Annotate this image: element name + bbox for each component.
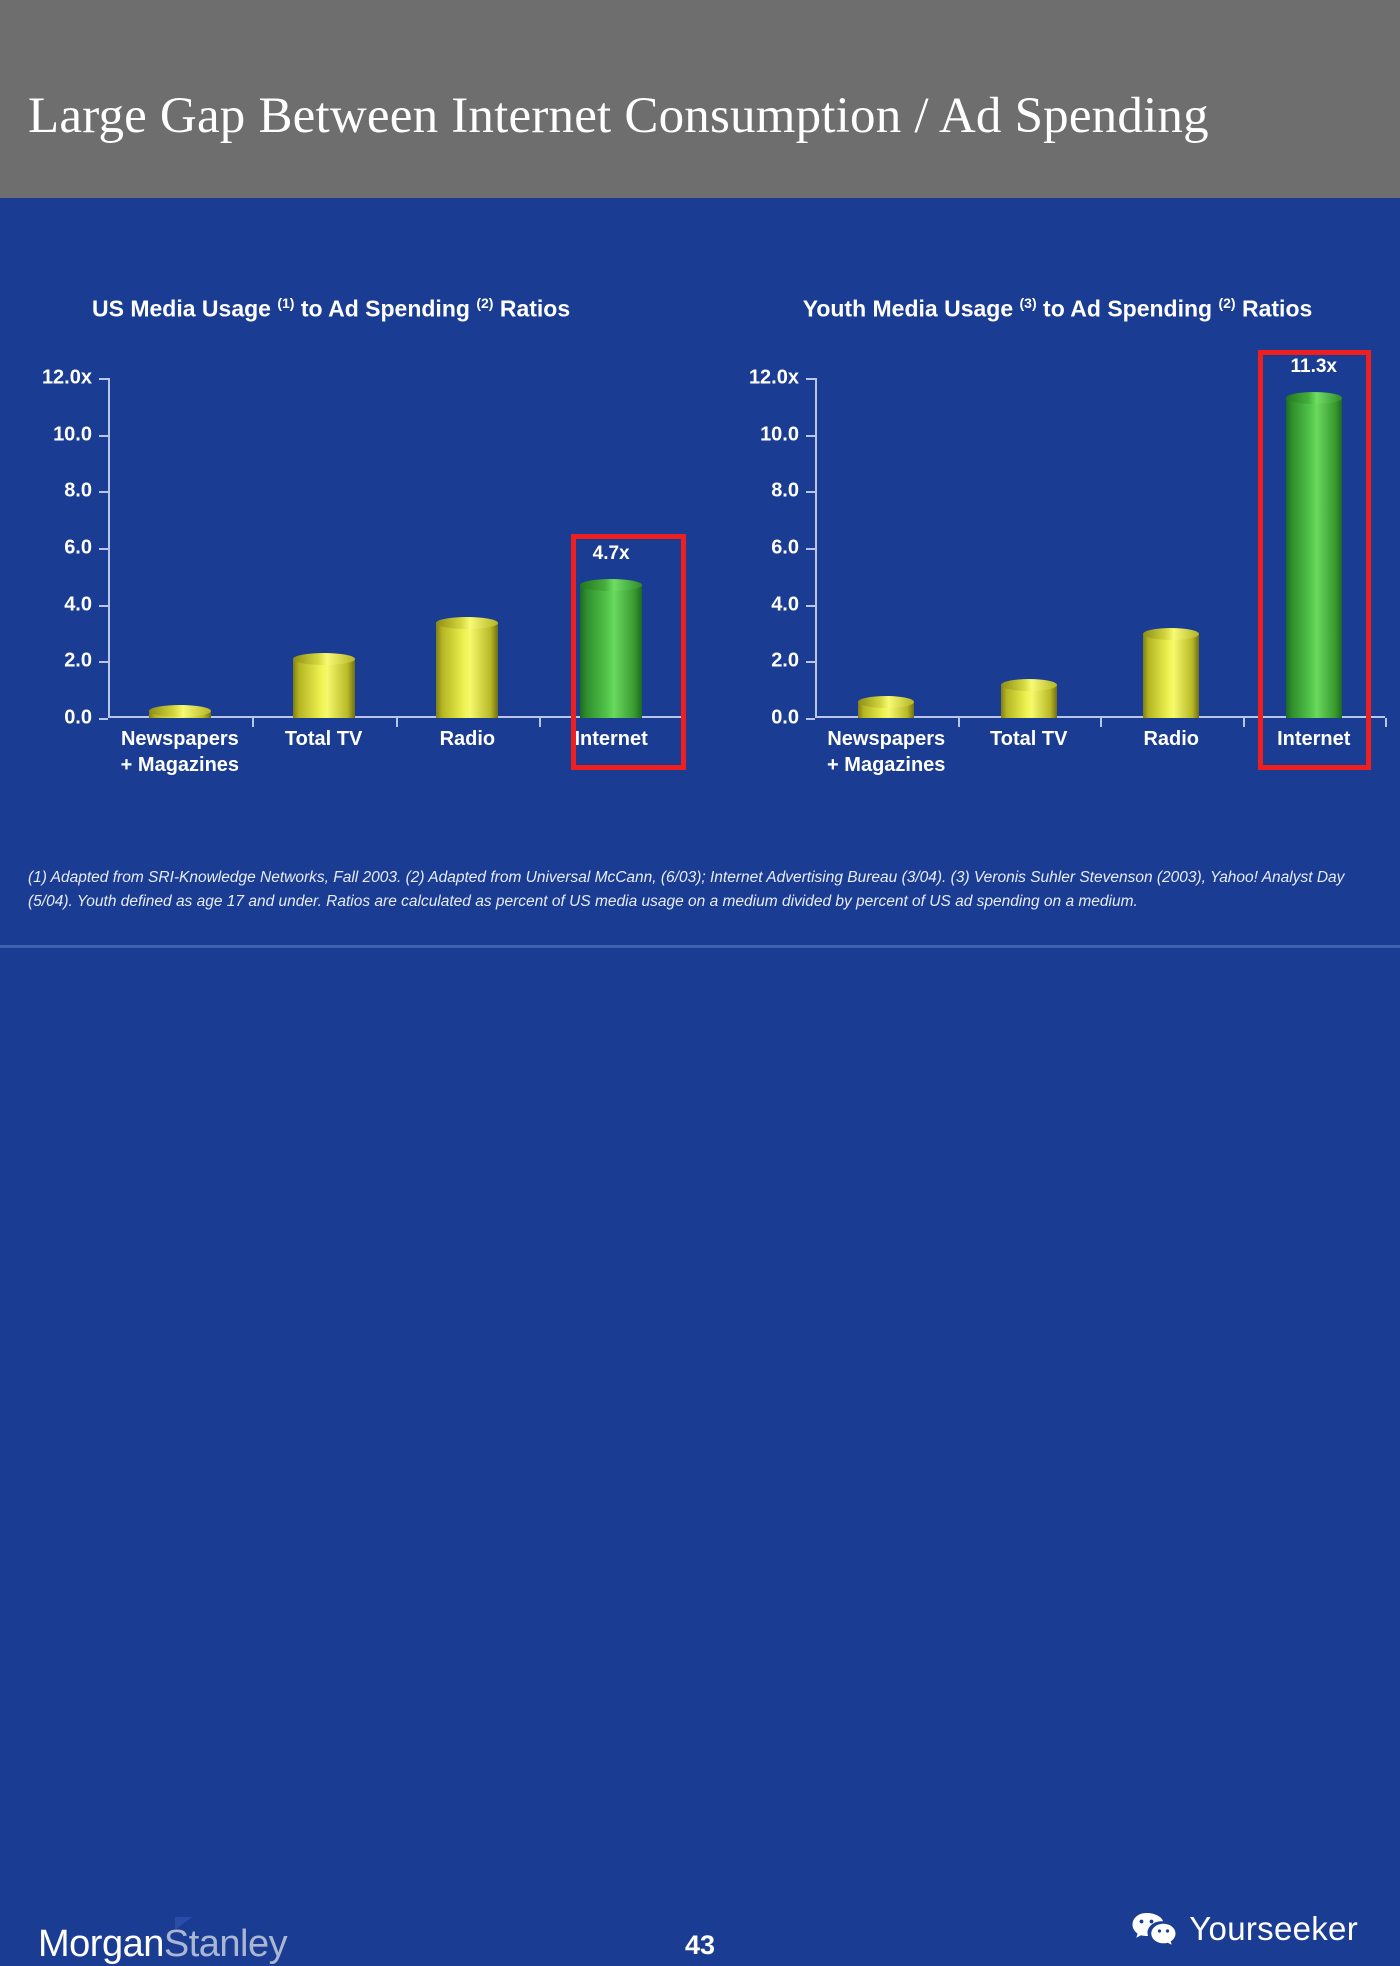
bar-radio	[1143, 634, 1199, 718]
y-tick	[806, 718, 815, 720]
y-tick	[99, 435, 108, 437]
x-axis-label-total-tv: Total TV	[252, 726, 396, 752]
bar-internet	[1286, 398, 1342, 718]
bar-value-label: 11.3x	[1291, 356, 1338, 378]
x-tick	[683, 718, 685, 727]
x-axis-label-line: + Magazines	[815, 752, 958, 778]
chart-panel-us-media: US Media Usage (1) to Ad Spending (2) Ra…	[0, 198, 715, 838]
bar-body	[580, 585, 642, 718]
bar-cap-ellipse	[149, 705, 211, 717]
x-axis-label-newspapers-magazines: Newspapers+ Magazines	[815, 726, 958, 778]
chart-title-text-c: Ratios	[493, 296, 570, 322]
morgan-stanley-triangle-icon	[175, 1917, 192, 1930]
bar-body	[1286, 398, 1342, 718]
plot-area-us-media: 0.02.04.06.08.010.012.0xNewspapers+ Maga…	[108, 378, 683, 718]
y-tick-label: 6.0	[771, 537, 799, 560]
chart-title-text-b: to Ad Spending	[294, 296, 476, 322]
bar-cap-ellipse	[1143, 628, 1199, 640]
slide-header-band: Large Gap Between Internet Consumption /…	[0, 0, 1400, 198]
y-tick-label: 6.0	[64, 537, 92, 560]
y-tick	[99, 491, 108, 493]
y-tick	[99, 548, 108, 550]
footnote-ref-3: (3)	[1020, 295, 1037, 311]
chart-title-text-a: US Media Usage	[92, 296, 277, 322]
x-axis-label-radio: Radio	[396, 726, 540, 752]
bar-value-label: 4.7x	[593, 543, 630, 565]
watermark-label: Yourseeker	[1189, 1910, 1358, 1948]
bar-total-tv	[293, 659, 355, 719]
slide: Large Gap Between Internet Consumption /…	[0, 0, 1400, 1042]
y-tick-label: 12.0x	[42, 367, 92, 390]
x-axis-label-line: Total TV	[958, 726, 1101, 752]
x-axis-label-line: Radio	[1100, 726, 1243, 752]
footnote-ref-2: (2)	[476, 295, 493, 311]
y-tick-label: 12.0x	[749, 367, 799, 390]
y-tick	[99, 378, 108, 380]
chart-title-us-media: US Media Usage (1) to Ad Spending (2) Ra…	[0, 286, 807, 326]
y-tick-label: 2.0	[64, 650, 92, 673]
chart-title-text-c: Ratios	[1236, 296, 1313, 322]
bar-body	[1143, 634, 1199, 718]
y-tick	[806, 435, 815, 437]
bar-cap-ellipse	[436, 617, 498, 629]
bar-cap-ellipse	[858, 696, 914, 708]
y-tick-label: 0.0	[64, 707, 92, 730]
bar-cap-ellipse	[293, 653, 355, 665]
x-axis-label-line: Radio	[396, 726, 540, 752]
x-axis-label-line: Internet	[1243, 726, 1386, 752]
x-axis-label-newspapers-magazines: Newspapers+ Magazines	[108, 726, 252, 778]
bar-newspapers-magazines	[858, 702, 914, 718]
bar-cap-ellipse	[580, 579, 642, 591]
y-tick-label: 10.0	[53, 423, 92, 446]
y-tick-label: 8.0	[64, 480, 92, 503]
x-axis-label-total-tv: Total TV	[958, 726, 1101, 752]
y-tick	[806, 661, 815, 663]
y-axis-line	[815, 378, 817, 718]
x-axis-label-line: Total TV	[252, 726, 396, 752]
watermark-yourseeker: Yourseeker	[1131, 1910, 1358, 1948]
y-tick	[806, 491, 815, 493]
bar-cap-ellipse	[1286, 392, 1342, 404]
x-axis-label-internet: Internet	[539, 726, 683, 752]
y-tick-label: 4.0	[64, 593, 92, 616]
bar-internet	[580, 585, 642, 718]
y-axis-line	[108, 378, 110, 718]
x-axis-label-line: Internet	[539, 726, 683, 752]
y-tick	[99, 605, 108, 607]
footnote-ref-1: (1)	[277, 295, 294, 311]
bar-body	[293, 659, 355, 719]
y-tick-label: 0.0	[771, 707, 799, 730]
page-title: Large Gap Between Internet Consumption /…	[28, 86, 1378, 146]
y-tick-label: 4.0	[771, 593, 799, 616]
slide-footer: MorganStanley 43 Yourseeker	[0, 948, 1400, 1042]
y-tick	[99, 718, 108, 720]
y-tick	[806, 548, 815, 550]
plot-area-youth-media: 0.02.04.06.08.010.012.0xNewspapers+ Maga…	[815, 378, 1385, 718]
bar-total-tv	[1001, 685, 1057, 718]
x-axis-label-internet: Internet	[1243, 726, 1386, 752]
footnote-ref-2: (2)	[1218, 295, 1235, 311]
chart-title-text-b: to Ad Spending	[1037, 296, 1219, 322]
footnote-text: (1) Adapted from SRI-Knowledge Networks,…	[28, 866, 1373, 914]
y-tick	[99, 661, 108, 663]
chart-title-text-a: Youth Media Usage	[803, 296, 1020, 322]
y-tick	[806, 605, 815, 607]
x-axis-label-radio: Radio	[1100, 726, 1243, 752]
y-tick-label: 10.0	[760, 423, 799, 446]
y-tick-label: 8.0	[771, 480, 799, 503]
bar-radio	[436, 623, 498, 718]
wechat-icon	[1131, 1911, 1177, 1947]
y-tick	[806, 378, 815, 380]
bar-body	[436, 623, 498, 718]
x-axis-label-line: + Magazines	[108, 752, 252, 778]
x-tick	[1385, 718, 1387, 727]
y-tick-label: 2.0	[771, 650, 799, 673]
chart-title-youth-media: Youth Media Usage (3) to Ad Spending (2)…	[715, 286, 1400, 326]
x-axis-label-line: Newspapers	[815, 726, 958, 752]
bar-cap-ellipse	[1001, 679, 1057, 691]
chart-panel-youth-media: Youth Media Usage (3) to Ad Spending (2)…	[715, 198, 1400, 838]
bar-newspapers-magazines	[149, 711, 211, 718]
x-axis-label-line: Newspapers	[108, 726, 252, 752]
